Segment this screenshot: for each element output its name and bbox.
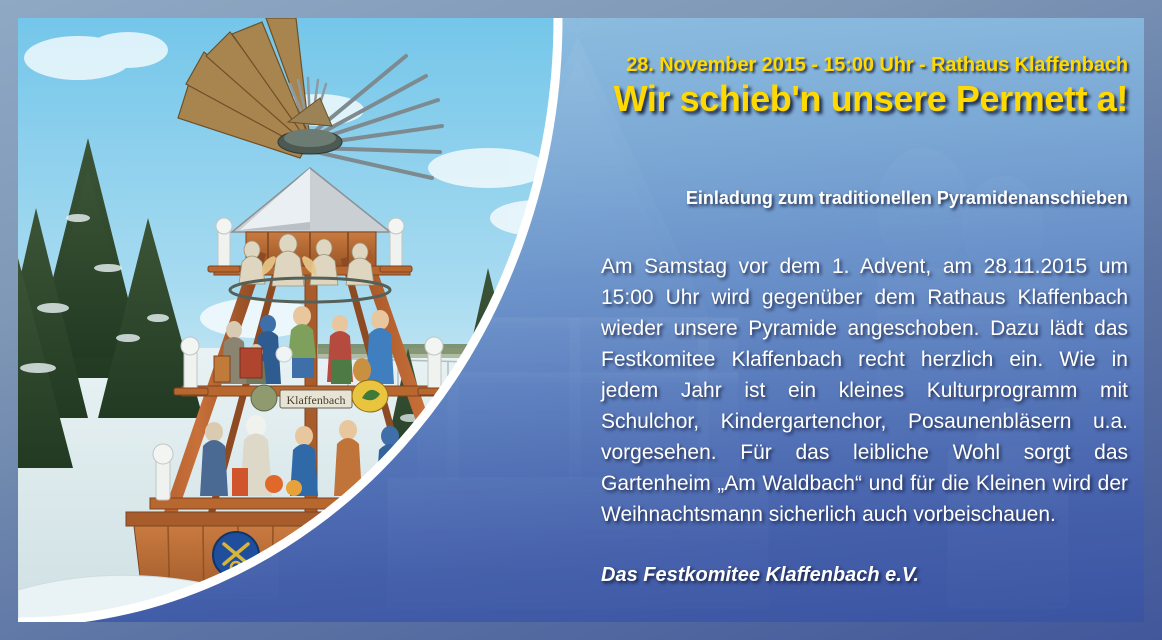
invitation-body: Am Samstag vor dem 1. Advent, am 28.11.2… — [601, 251, 1128, 530]
poster-root: Klaffenbach — [0, 0, 1162, 640]
base-emblems — [213, 529, 424, 578]
organizer-signature: Das Festkomitee Klaffenbach e.V. — [601, 564, 1128, 587]
event-date-line: 28. November 2015 - 15:00 Uhr - Rathaus … — [505, 54, 1144, 77]
page-title: Wir schieb'n unsere Permett a! — [505, 78, 1144, 120]
invitation-subtitle: Einladung zum traditionellen Pyramidenan… — [505, 188, 1144, 209]
poster-panel: Klaffenbach — [18, 18, 1144, 622]
invitation-body-paragraph: Am Samstag vor dem 1. Advent, am 28.11.2… — [601, 251, 1128, 530]
poster-content: 28. November 2015 - 15:00 Uhr - Rathaus … — [505, 18, 1144, 622]
pyramid-sign-text: Klaffenbach — [286, 393, 345, 407]
